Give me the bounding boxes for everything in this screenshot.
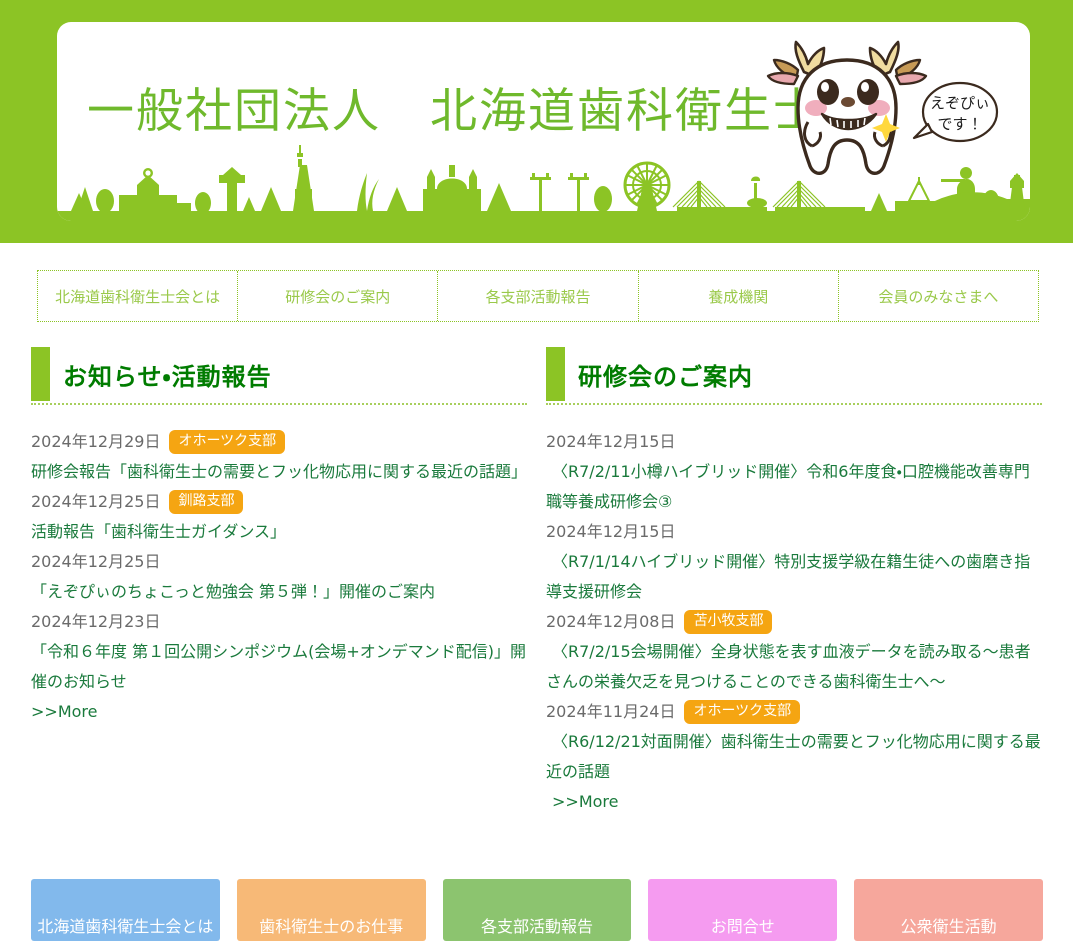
status-badge: オホーツク支部 <box>684 700 800 724</box>
seminars-list: 2024年12月15日 〈R7/2/11小樽ハイブリッド開催〉令和6年度食・口腔… <box>546 427 1042 817</box>
list-item: 2024年12月25日 「えぞぴぃのちょこっと勉強会 第５弾！」開催のご案内 <box>31 547 527 607</box>
status-badge: 苫小牧支部 <box>684 610 772 634</box>
seminar-entry-meta: 2024年11月24日 オホーツク支部 <box>546 697 1042 727</box>
news-entry-date: 2024年12月25日 <box>31 487 160 517</box>
seminar-entry-meta: 2024年12月15日 <box>546 517 1042 547</box>
status-badge: オホーツク支部 <box>169 430 285 454</box>
list-item: 2024年12月15日 〈R7/1/14ハイブリッド開催〉特別支援学級在籍生徒へ… <box>546 517 1042 607</box>
seminars-more-link[interactable]: >>More <box>552 787 618 817</box>
tile-about[interactable]: 北海道歯科衛生士会とは <box>31 879 220 941</box>
seminar-entry-meta: 2024年12月08日 苫小牧支部 <box>546 607 1042 637</box>
seminars-section-title: 研修会のご案内 <box>578 357 753 392</box>
list-item: 2024年11月24日 オホーツク支部 〈R6/12/21対面開催〉歯科衛生士の… <box>546 697 1042 787</box>
list-item: 2024年12月23日 「令和６年度 第１回公開シンポジウム(会場+オンデマンド… <box>31 607 527 697</box>
seminar-entry-date: 2024年12月15日 <box>546 517 675 547</box>
news-entry-meta: 2024年12月25日 釧路支部 <box>31 487 527 517</box>
news-entry-title[interactable]: 「令和６年度 第１回公開シンポジウム(会場+オンデマンド配信)」開催のお知らせ <box>31 637 527 697</box>
tile-branch-reports[interactable]: 各支部活動報告 <box>443 879 632 941</box>
news-entry-meta: 2024年12月23日 <box>31 607 527 637</box>
news-entry-title[interactable]: 活動報告「歯科衛生士ガイダンス」 <box>31 517 527 547</box>
news-section: お知らせ・活動報告 2024年12月29日 オホーツク支部 研修会報告「歯科衛生… <box>31 345 527 817</box>
seminar-entry-meta: 2024年12月15日 <box>546 427 1042 457</box>
seminar-entry-title[interactable]: 〈R7/1/14ハイブリッド開催〉特別支援学級在籍生徒への歯磨き指導支援研修会 <box>546 547 1042 607</box>
main-content: お知らせ・活動報告 2024年12月29日 オホーツク支部 研修会報告「歯科衛生… <box>31 345 1043 817</box>
seminar-entry-date: 2024年12月08日 <box>546 607 675 637</box>
seminars-section-header: 研修会のご案内 <box>546 345 1042 405</box>
news-more-link[interactable]: >>More <box>31 697 97 727</box>
seminars-section: 研修会のご案内 2024年12月15日 〈R7/2/11小樽ハイブリッド開催〉令… <box>546 345 1042 817</box>
nav-item-seminars[interactable]: 研修会のご案内 <box>238 271 438 321</box>
tile-contact[interactable]: お問合せ <box>648 879 837 941</box>
main-navigation: 北海道歯科衛生士会とは 研修会のご案内 各支部活動報告 養成機関 会員のみなさま… <box>37 270 1039 322</box>
quick-link-tiles: 北海道歯科衛生士会とは 歯科衛生士のお仕事 各支部活動報告 お問合せ 公衆衛生活… <box>31 879 1043 941</box>
seminar-entry-title[interactable]: 〈R6/12/21対面開催〉歯科衛生士の需要とフッ化物応用に関する最近の話題 <box>546 727 1042 787</box>
list-item: 2024年12月29日 オホーツク支部 研修会報告「歯科衛生士の需要とフッ化物応… <box>31 427 527 487</box>
tile-dental-hygienist-work[interactable]: 歯科衛生士のお仕事 <box>237 879 426 941</box>
seminar-entry-date: 2024年11月24日 <box>546 697 675 727</box>
status-badge: 釧路支部 <box>169 490 243 514</box>
news-list: 2024年12月29日 オホーツク支部 研修会報告「歯科衛生士の需要とフッ化物応… <box>31 427 527 727</box>
nav-item-about[interactable]: 北海道歯科衛生士会とは <box>38 271 238 321</box>
mascot-ezopy-illustration: えぞぴぃ です！ <box>748 26 1008 206</box>
seminar-entry-date: 2024年12月15日 <box>546 427 675 457</box>
mascot-speech-line2: です！ <box>937 115 982 133</box>
news-entry-title[interactable]: 研修会報告「歯科衛生士の需要とフッ化物応用に関する最近の話題」 <box>31 457 527 487</box>
news-entry-meta: 2024年12月25日 <box>31 547 527 577</box>
news-entry-date: 2024年12月29日 <box>31 427 160 457</box>
list-item: 2024年12月25日 釧路支部 活動報告「歯科衛生士ガイダンス」 <box>31 487 527 547</box>
nav-item-branch-reports[interactable]: 各支部活動報告 <box>438 271 638 321</box>
seminar-entry-title[interactable]: 〈R7/2/15会場開催〉全身状態を表す血液データを読み取る〜患者さんの栄養欠乏… <box>546 637 1042 697</box>
news-entry-date: 2024年12月23日 <box>31 607 160 637</box>
tile-public-health[interactable]: 公衆衛生活動 <box>854 879 1043 941</box>
list-item: 2024年12月15日 〈R7/2/11小樽ハイブリッド開催〉令和6年度食・口腔… <box>546 427 1042 517</box>
news-entry-date: 2024年12月25日 <box>31 547 160 577</box>
mascot-speech-line1: えぞぴぃ <box>930 94 990 112</box>
site-header: 一般社団法人 北海道歯科衛生士会 <box>0 0 1073 243</box>
news-section-title: お知らせ・活動報告 <box>63 357 272 392</box>
nav-item-training-institutions[interactable]: 養成機関 <box>639 271 839 321</box>
nav-item-for-members[interactable]: 会員のみなさまへ <box>839 271 1038 321</box>
news-entry-title[interactable]: 「えぞぴぃのちょこっと勉強会 第５弾！」開催のご案内 <box>31 577 527 607</box>
header-white-panel: 一般社団法人 北海道歯科衛生士会 <box>57 22 1030 221</box>
news-entry-meta: 2024年12月29日 オホーツク支部 <box>31 427 527 457</box>
list-item: 2024年12月08日 苫小牧支部 〈R7/2/15会場開催〉全身状態を表す血液… <box>546 607 1042 697</box>
seminar-entry-title[interactable]: 〈R7/2/11小樽ハイブリッド開催〉令和6年度食・口腔機能改善専門職等養成研修… <box>546 457 1042 517</box>
news-section-header: お知らせ・活動報告 <box>31 345 527 405</box>
